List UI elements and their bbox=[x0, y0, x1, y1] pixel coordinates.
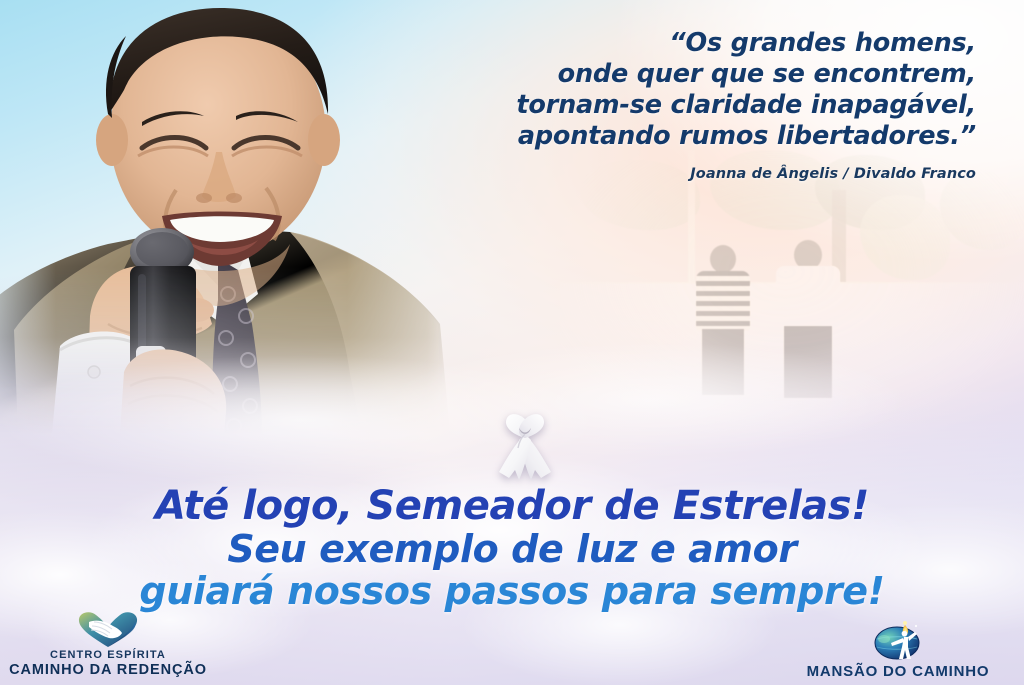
quote-attribution: Joanna de Ângelis / Divaldo Franco bbox=[416, 166, 976, 182]
memorial-poster: “Os grandes homens, onde quer que se enc… bbox=[0, 0, 1024, 685]
logo-centro-espirita: CENTRO ESPÍRITA CAMINHO DA REDENÇÃO bbox=[8, 609, 208, 679]
heart-hands-icon bbox=[76, 609, 140, 649]
white-ribbon-icon bbox=[489, 408, 561, 488]
logo-left-line-2: CAMINHO DA REDENÇÃO bbox=[8, 662, 208, 679]
quote-line-1: “Os grandes homens, bbox=[416, 28, 976, 59]
portrait-photo bbox=[0, 0, 460, 434]
logo-left-line-1: CENTRO ESPÍRITA bbox=[8, 649, 208, 662]
ribbon-glyph bbox=[489, 408, 561, 488]
globe-figure-icon bbox=[871, 617, 925, 661]
background-person-striped bbox=[690, 245, 752, 395]
quote-line-4: apontando rumos libertadores.” bbox=[416, 121, 976, 152]
portrait-illustration bbox=[0, 0, 460, 434]
headline-line-1: Até logo, Semeador de Estrelas! bbox=[0, 484, 1024, 528]
background-person-white-shirt bbox=[772, 240, 844, 398]
logo-right-line-1: MANSÃO DO CAMINHO bbox=[778, 663, 1018, 681]
logo-mansao-do-caminho: MANSÃO DO CAMINHO bbox=[778, 617, 1018, 681]
headline-line-3: guiará nossos passos para sempre! bbox=[0, 570, 1024, 612]
background-photo bbox=[560, 150, 1024, 440]
quote-block: “Os grandes homens, onde quer que se enc… bbox=[416, 28, 976, 182]
headline-block: Até logo, Semeador de Estrelas! Seu exem… bbox=[0, 484, 1024, 612]
quote-line-3: tornam-se claridade inapagável, bbox=[416, 90, 976, 121]
headline-line-2: Seu exemplo de luz e amor bbox=[0, 528, 1024, 570]
quote-line-2: onde quer que se encontrem, bbox=[416, 59, 976, 90]
